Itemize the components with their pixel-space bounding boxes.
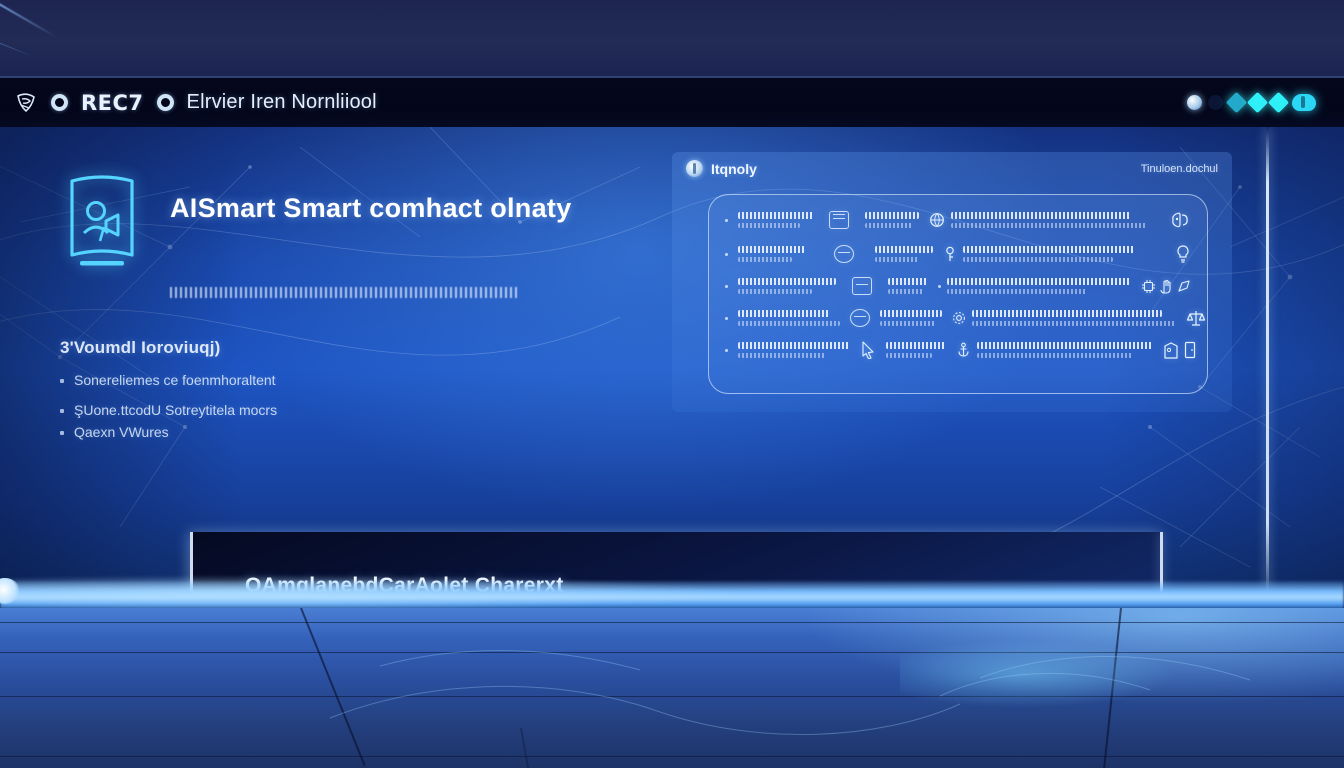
row-marker-icon [725, 317, 728, 320]
cell-primary-text: Hlecotcsbetoorke-buaninzsxii [951, 212, 1131, 219]
info-circle-icon[interactable] [686, 160, 703, 177]
cell-secondary-text: Ptt1tmtsl [875, 257, 919, 262]
page-title: AISmart Smart comhact olnaty [170, 193, 572, 224]
cell-primary-text: CloddDaoammm.m [738, 310, 830, 317]
cell-primary-text: lrzxdDa Enlgumomzuuzsl.lR [977, 342, 1153, 349]
cell-secondary-text: tmnmummmbommmtmmlm [738, 353, 826, 358]
bullet-icon [60, 379, 64, 383]
table-row[interactable]: 6.ADoI0I ttocmtrsm 3.0I1I.5IRL Ptt1tmtsl [725, 244, 1191, 264]
app-title: Elrvier Iren Nornliiool [187, 91, 377, 114]
monitor-icon[interactable] [850, 309, 870, 327]
list-item: Qaexn VWures [60, 424, 660, 440]
hand-icon[interactable] [1160, 279, 1173, 294]
screen: REC7 Elrvier Iren Nornliiool [0, 0, 1344, 768]
app-header-left: REC7 Elrvier Iren Nornliiool [14, 91, 377, 115]
top-ambient-strip [0, 0, 1344, 78]
diamond-indicator-icon[interactable] [1226, 92, 1247, 113]
scales-balance-icon[interactable] [1186, 308, 1206, 328]
feature-list-heading: 3'Voumdl Ioroviuqj) [60, 338, 660, 358]
cell-secondary-text: Htttoomtmrs [738, 223, 800, 228]
right-panel-corner-label: Tinuloen.dochul [1141, 163, 1218, 175]
cell-secondary-text: mtbmtmmnmmml mtbmmtmtom [977, 353, 1133, 358]
globe-grid-icon[interactable] [929, 212, 945, 228]
anchor-icon[interactable] [956, 342, 971, 358]
cell-primary-text: mezzoxsoa.lsorttL [738, 342, 850, 349]
row-marker-icon [725, 253, 728, 256]
cell-secondary-text: Mtbomtmt Smtmtmn [880, 321, 936, 326]
bullet-icon [60, 431, 64, 435]
list-item-label: Qaexn VWures [74, 424, 169, 440]
cell-secondary-text: mtblmumoorsmsnmn mlumnbmoornsm [951, 223, 1147, 228]
diamond-indicator-icon[interactable] [1268, 92, 1289, 113]
cursor-arrow-icon[interactable] [860, 341, 876, 359]
record-ring-icon[interactable] [51, 94, 68, 111]
right-panel-title: Itqnoly [711, 161, 757, 177]
vertical-light-bar [1266, 127, 1269, 593]
cell-secondary-text: Sotbtlmbmmtomummbtonti [738, 321, 840, 326]
row-marker-icon [725, 285, 728, 288]
table-row[interactable]: mezzoxsoa.lsorttL tmnmummmbommmtmmlm t. [725, 341, 1191, 359]
gear-icon[interactable] [952, 311, 966, 325]
lock-building-icon[interactable] [1163, 341, 1179, 359]
cell-primary-text: Oumrs.lbSbomoomm.ytSbmomtbostbn [972, 310, 1162, 317]
record-ring-icon[interactable] [157, 94, 174, 111]
list-item-label: Sonereliemes ce foenmhoraltent [74, 372, 276, 388]
hero-block: AISmart Smart comhact olnaty attxtteandb… [60, 167, 660, 440]
cell-primary-text: Hlllsubxx6 [738, 212, 814, 219]
shield-swirl-icon[interactable] [14, 92, 38, 114]
cell-secondary-text: Hbumnom.tl t lomtt lmmrnt [963, 257, 1113, 262]
right-panel-card: Hlllsubxx6 Htttoomtmrs Dlllbtdd Plttmtst… [708, 194, 1208, 394]
cell-primary-text: t.Hombliuem [886, 342, 946, 349]
table-row[interactable]: oemoectos1ucn dttsonctrn oull mttmbun [725, 277, 1191, 295]
cell-primary-text: t.Ik ITTDAXBlU.1HLOJUUCIJIUPI [963, 246, 1135, 253]
hero-feature-list: 3'Voumdl Ioroviuqj) Sonereliemes ce foen… [60, 338, 660, 440]
card-stack-icon[interactable] [852, 277, 872, 295]
lightbulb-icon[interactable] [1175, 244, 1191, 264]
document-person-chart-icon [60, 171, 144, 275]
cell-secondary-text: mtbnmsommml lmmmtnt [947, 289, 1087, 294]
light-streak-icon [0, 1, 56, 38]
cell-primary-text: 3.0I1I.5IRL [875, 246, 933, 253]
key-icon[interactable] [943, 246, 957, 262]
right-panel-header: Itqnoly Tinuloen.dochul [672, 152, 1232, 177]
cell-secondary-text: ttocmtrsm [738, 257, 792, 262]
cell-primary-text: oull [888, 278, 928, 285]
list-item-label: ŞUone.ttcodU Sotreytitela mocrs [74, 402, 277, 418]
list-item: ŞUone.ttcodU Sotreytitela mocrs [60, 402, 660, 418]
record-label: REC7 [81, 91, 144, 115]
pen-nib-icon[interactable] [1177, 279, 1191, 293]
floor-light-trail-icon [0, 608, 1344, 768]
door-icon[interactable] [1184, 341, 1196, 359]
cell-secondary-text: dttsonctrn [738, 289, 812, 294]
cell-primary-text: Ndbmdl..... [880, 310, 942, 317]
list-item: Sonereliemes ce foenmhoraltent [60, 372, 660, 388]
cell-secondary-text: mtbmtmmm mmt [886, 353, 932, 358]
dot-marker-icon [938, 285, 941, 288]
reflective-floor [0, 608, 1344, 768]
row-marker-icon [725, 219, 728, 222]
wave-blob-indicator-icon[interactable] [1292, 94, 1316, 111]
light-streak-icon [0, 36, 32, 56]
badge-circle-icon[interactable] [834, 245, 854, 263]
hero-subtitle: attxtteandbotormmbouti jmorbcii omnomrtt… [170, 287, 520, 298]
app-header-bar: REC7 Elrvier Iren Nornliiool [0, 78, 1344, 127]
cell-primary-text: Dlllbtdd [865, 212, 919, 219]
cell-secondary-text: Jrmumzmmmtsmt.lbmmntjmmmtommnmt [972, 321, 1176, 326]
chip-icon[interactable] [1141, 279, 1156, 294]
right-info-panel: Itqnoly Tinuloen.dochul Hlllsubxx6 Httto… [672, 152, 1232, 412]
bullet-icon [60, 409, 64, 413]
cell-primary-text: 6.ADoI0I [738, 246, 806, 253]
diamond-indicator-icon[interactable] [1247, 92, 1268, 113]
cell-secondary-text: Plttmtstme [865, 223, 913, 228]
brain-network-icon[interactable] [1169, 209, 1191, 231]
row-marker-icon [725, 349, 728, 352]
cell-primary-text: oemoectos1ucn [738, 278, 836, 285]
status-dot-bright-icon[interactable] [1187, 95, 1202, 110]
cell-secondary-text: mttmbun [888, 289, 924, 294]
status-indicator-group [1187, 94, 1330, 111]
status-dot-dim-icon[interactable] [1208, 95, 1223, 110]
table-row[interactable]: CloddDaoammm.m Sotbtlmbmmtomummbtonti Nd… [725, 308, 1191, 328]
cell-primary-text: HwMalsEtEHas 8lITgZIIL [947, 278, 1131, 285]
main-scene: AISmart Smart comhact olnaty attxtteandb… [0, 127, 1344, 593]
horizon-glow-band [0, 581, 1344, 611]
server-rack-icon[interactable] [829, 211, 849, 229]
table-row[interactable]: Hlllsubxx6 Htttoomtmrs Dlllbtdd Plttmtst… [725, 209, 1191, 231]
